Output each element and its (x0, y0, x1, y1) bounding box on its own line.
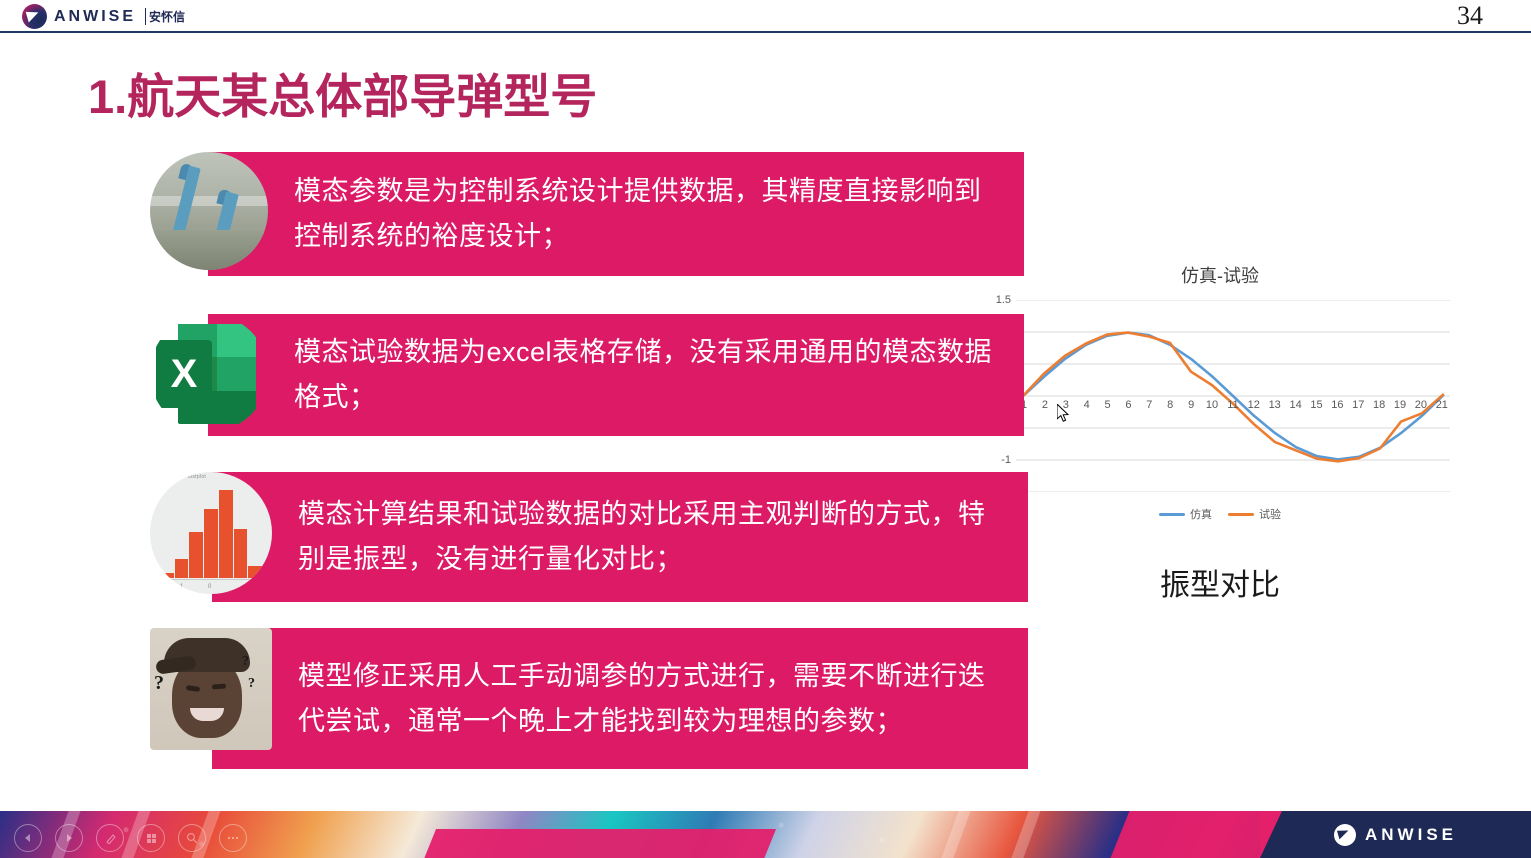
bullet-row-2: X 模态试验数据为excel表格存储，没有采用通用的模态数据格式； (150, 314, 1024, 436)
more-options-icon[interactable] (219, 824, 247, 852)
chart-legend-label: 仿真 (1190, 506, 1212, 522)
previous-slide-icon[interactable] (14, 824, 42, 852)
bullet-row-1: 模态参数是为控制系统设计提供数据，其精度直接影响到控制系统的裕度设计； (150, 152, 1024, 276)
chart-x-tick: 21 (1434, 399, 1450, 413)
chart-x-axis-labels: 123456789101112131415161718192021 (1016, 399, 1450, 413)
bullet-label-3: 模态计算结果和试验数据的对比采用主观判断的方式，特别是振型，没有进行量化对比； (298, 492, 1004, 581)
chart-x-tick: 16 (1329, 399, 1345, 413)
chart-x-tick: 9 (1183, 399, 1199, 413)
top-bar: ANWISE 安怀信 34 (0, 0, 1531, 33)
chart-x-tick: 12 (1246, 399, 1262, 413)
chart-legend-item: 仿真 (1159, 506, 1212, 522)
chart-x-tick: 13 (1267, 399, 1283, 413)
bullet-label-1: 模态参数是为控制系统设计提供数据，其精度直接影响到控制系统的裕度设计； (294, 169, 1000, 258)
chart-caption: 振型对比 (990, 560, 1450, 604)
chart-y-tick: -1 (1001, 454, 1011, 466)
histogram-caption: seaborn distplot (166, 474, 206, 480)
excel-letter: X (156, 340, 212, 408)
bullet-text-box-1: 模态参数是为控制系统设计提供数据，其精度直接影响到控制系统的裕度设计； (209, 152, 1024, 276)
page-number: 34 (1457, 1, 1483, 31)
histogram-tick-1: 0 (208, 584, 211, 590)
chart-x-tick: 8 (1162, 399, 1178, 413)
footer-brand-name: ANWISE (1365, 825, 1457, 845)
chart-plot-area: 1.510.50-0.5-1-1.5 123456789101112131415… (1016, 300, 1450, 492)
histogram-thumbnail: seaborn distplot -1 0 (150, 472, 272, 594)
chart-x-tick: 20 (1413, 399, 1429, 413)
chart-legend-item: 试验 (1228, 506, 1281, 522)
question-mark-icon-small-1: ? (242, 654, 249, 670)
chart-x-tick: 15 (1308, 399, 1324, 413)
excel-icon: X (150, 314, 268, 432)
chart-svg (1016, 300, 1450, 492)
slide-footer: ANWISE (0, 811, 1531, 858)
chart-x-tick: 6 (1120, 399, 1136, 413)
bullet-text-box-2: 模态试验数据为excel表格存储，没有采用通用的模态数据格式； (209, 314, 1024, 436)
page-title: 1.航天某总体部导弹型号 (88, 58, 597, 127)
chart-x-tick: 5 (1100, 399, 1116, 413)
footer-brand-logo: ANWISE (1260, 811, 1531, 858)
anwise-logo-icon-footer (1334, 824, 1356, 846)
bullet-text-box-4: 模型修正采用人工手动调参的方式进行，需要不断进行迭代尝试，通常一个晚上才能找到较… (213, 628, 1028, 769)
chart-x-tick: 2 (1037, 399, 1053, 413)
bullet-row-4: ? ? ? 模型修正采用人工手动调参的方式进行，需要不断进行迭代尝试，通常一个晚… (150, 628, 1028, 769)
chart-x-tick: 14 (1288, 399, 1304, 413)
chart-x-tick: 4 (1079, 399, 1095, 413)
question-mark-icon-small-2: ? (248, 676, 255, 692)
brand-name: ANWISE (54, 9, 136, 25)
slide-overview-icon[interactable] (137, 824, 165, 852)
missile-launcher-photo (150, 152, 268, 270)
header-divider (0, 31, 1531, 33)
histogram-bars (160, 490, 262, 578)
next-slide-icon[interactable] (55, 824, 83, 852)
chart-legend-swatch (1228, 513, 1254, 516)
chart-x-tick: 19 (1392, 399, 1408, 413)
comparison-line-chart: 仿真-试验 1.510.50-0.5-1-1.5 123456789101112… (990, 262, 1450, 522)
chart-legend-label: 试验 (1259, 506, 1281, 522)
chart-x-tick: 17 (1350, 399, 1366, 413)
chart-y-tick: 1.5 (996, 294, 1011, 306)
bullet-label-4: 模型修正采用人工手动调参的方式进行，需要不断进行迭代尝试，通常一个晚上才能找到较… (298, 654, 1004, 743)
histogram-tick-0: -1 (178, 584, 183, 590)
bullet-label-2: 模态试验数据为excel表格存储，没有采用通用的模态数据格式； (294, 330, 1000, 419)
chart-legend: 仿真试验 (990, 506, 1450, 522)
chart-x-tick: 11 (1225, 399, 1241, 413)
question-mark-icon: ? (154, 672, 164, 695)
confused-face-meme: ? ? ? (150, 628, 272, 750)
chart-title: 仿真-试验 (990, 262, 1450, 288)
chart-legend-swatch (1159, 513, 1185, 516)
bullet-text-box-3: 模态计算结果和试验数据的对比采用主观判断的方式，特别是振型，没有进行量化对比； (213, 472, 1028, 602)
pen-tool-icon[interactable] (96, 824, 124, 852)
chart-x-tick: 18 (1371, 399, 1387, 413)
zoom-in-icon[interactable] (178, 824, 206, 852)
brand-logo: ANWISE 安怀信 (22, 4, 185, 29)
brand-name-chinese: 安怀信 (145, 8, 185, 25)
anwise-logo-icon (22, 4, 47, 29)
presentation-controls[interactable] (14, 824, 247, 852)
chart-x-tick: 10 (1204, 399, 1220, 413)
chart-x-tick: 7 (1141, 399, 1157, 413)
bullet-row-3: seaborn distplot -1 0 模态计算结果和试验数据的对比采用主观… (150, 472, 1028, 602)
chart-x-tick: 3 (1058, 399, 1074, 413)
